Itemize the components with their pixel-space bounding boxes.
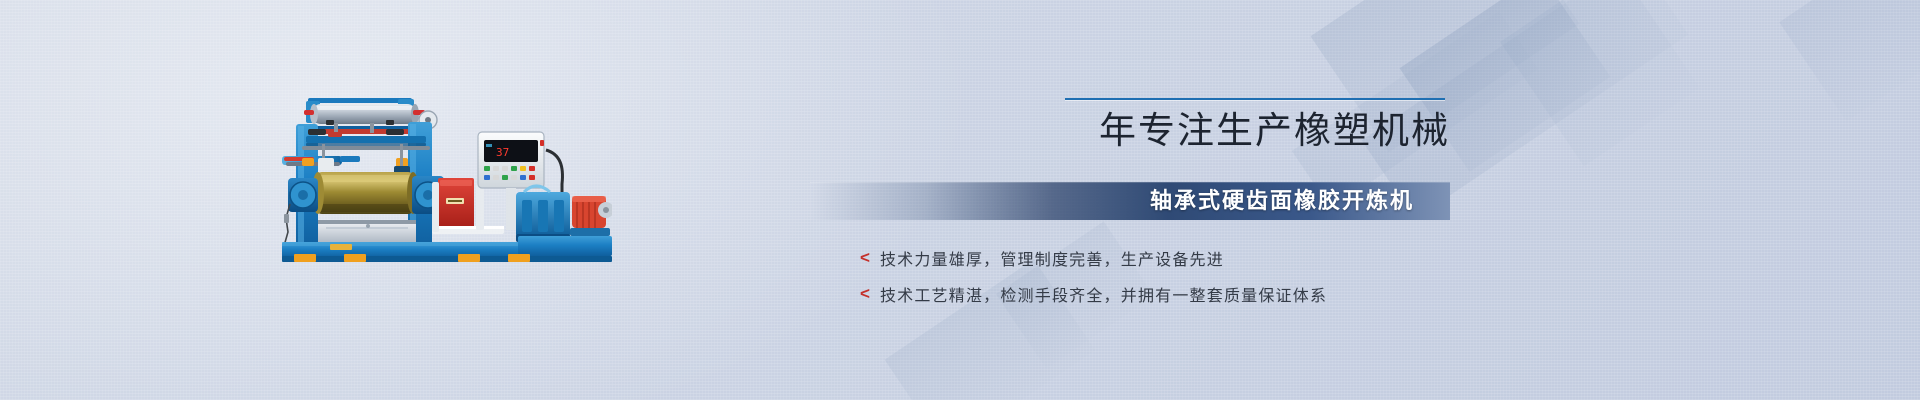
product-image: 37 [282,96,612,264]
list-item-label: 技术工艺精湛，检测手段齐全，并拥有一整套质量保证体系 [880,282,1327,306]
list-item: < 技术力量雄厚，管理制度完善，生产设备先进 [860,240,1460,276]
chevron-left-icon: < [860,249,870,266]
list-item: < 技术工艺精湛，检测手段齐全，并拥有一整套质量保证体系 [860,276,1460,312]
feature-list: < 技术力量雄厚，管理制度完善，生产设备先进 < 技术工艺精湛，检测手段齐全，并… [860,240,1460,312]
banner-content: 年专注生产橡塑机械 轴承式硬齿面橡胶开炼机 < 技术力量雄厚，管理制度完善，生产… [800,0,1920,400]
chevron-left-icon: < [860,285,870,302]
promo-banner: 37 [0,0,1920,400]
subtitle-bar: 轴承式硬齿面橡胶开炼机 [810,182,1450,220]
list-item-label: 技术力量雄厚，管理制度完善，生产设备先进 [880,246,1224,270]
subtitle-text: 轴承式硬齿面橡胶开炼机 [1150,182,1414,220]
svg-text:37: 37 [496,146,509,159]
headline-rule [1065,98,1445,101]
page-title: 年专注生产橡塑机械 [872,108,1450,154]
